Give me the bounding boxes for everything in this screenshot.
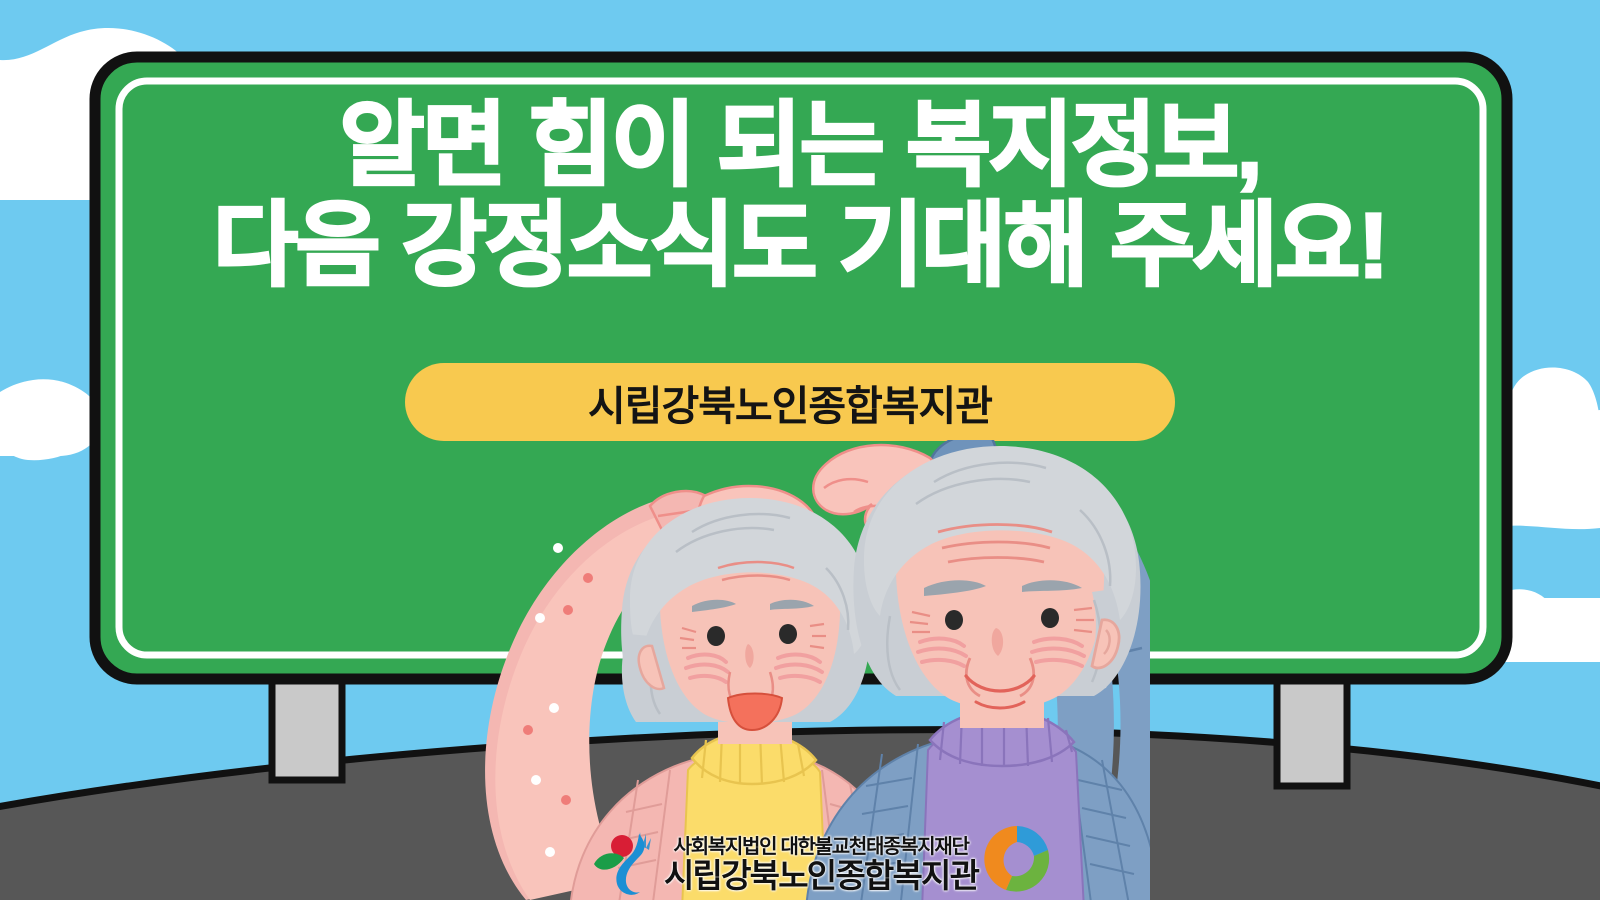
- page-title: 알면 힘이 되는 복지정보, 다음 강정소식도 기대해 주세요!: [95, 96, 1505, 296]
- organization-badge-label: 시립강북노인종합복지관: [588, 372, 992, 432]
- organization-logo: 사회복지법인 대한불교천태종복지재단 시립강북노인종합복지관: [592, 812, 1008, 896]
- man-eye-right: [1041, 608, 1059, 628]
- woman-eye-left: [707, 626, 725, 646]
- tricolor-swoosh-logo-icon: [592, 826, 664, 896]
- poster-canvas: 알면 힘이 되는 복지정보, 다음 강정소식도 기대해 주세요! 시립강북노인종…: [0, 0, 1600, 900]
- organization-center-name: 시립강북노인종합복지관: [664, 858, 978, 894]
- organization-badge: 시립강북노인종합복지관: [405, 363, 1175, 441]
- organization-foundation-name: 사회복지법인 대한불교천태종복지재단: [674, 836, 969, 858]
- cloud-shape-icon: [1505, 410, 1600, 529]
- organization-logo-text: 사회복지법인 대한불교천태종복지재단 시립강북노인종합복지관: [664, 836, 978, 896]
- tricolor-ring-logo-icon: [980, 822, 1054, 896]
- man-eye-left: [945, 610, 963, 630]
- woman-eye-right: [779, 624, 797, 644]
